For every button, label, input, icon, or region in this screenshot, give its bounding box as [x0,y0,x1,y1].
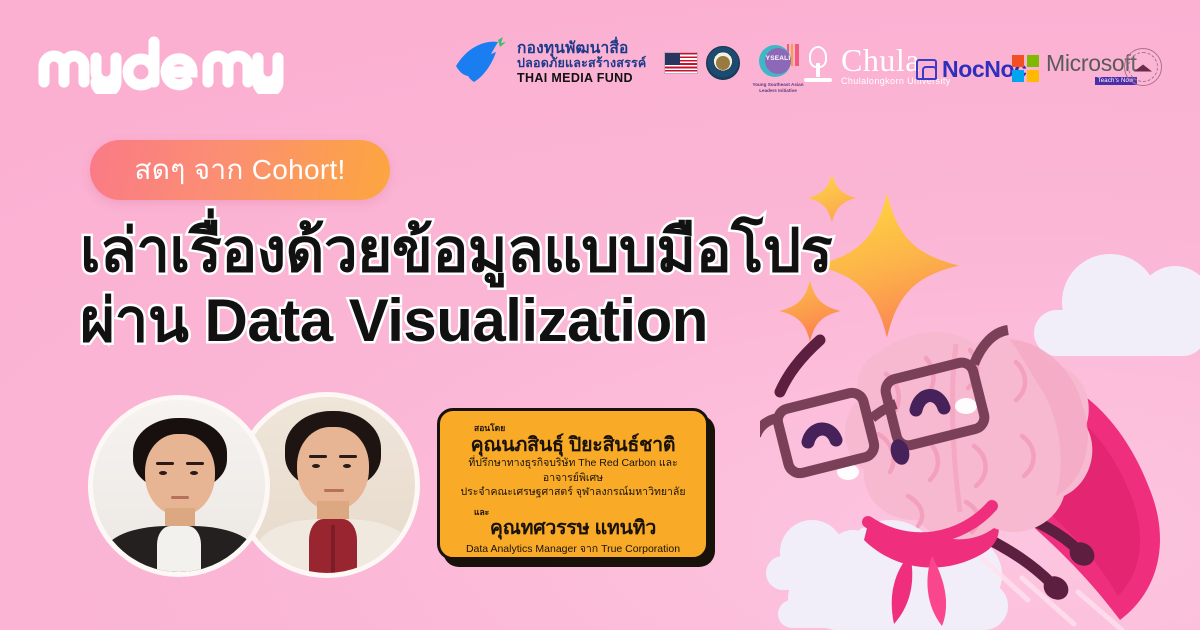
partner-logo-yseali: YSEALI Young Southeast Asian Leaders Ini… [748,42,808,93]
bird-icon [452,36,510,90]
nocnoc-house-icon [916,59,937,80]
speaker-2-role: Data Analytics Manager จาก True Corporat… [466,540,680,557]
us-flag-icon [664,52,698,74]
page-title: เล่าเรื่องด้วยข้อมูลแบบมือโปร ผ่าน Data … [80,216,980,355]
graduation-cap-seal-icon [1124,48,1162,86]
headline-line-2: ผ่าน Data Visualization [80,286,980,356]
yseali-subtitle: Young Southeast Asian Leaders Initiative [748,82,808,93]
tmf-thai-line-1: กองทุนพัฒนาสื่อ [517,41,647,58]
partner-logo-nocnoc: NocNoc [916,56,1027,83]
partner-logo-grad-seal [1124,48,1162,86]
tmf-thai-line-2: ปลอดภัยและสร้างสรรค์ [517,57,647,71]
speaker-card: สอนโดย คุณนภสินธุ์ ปิยะสินธ์ชาติ ที่ปรึก… [437,408,709,560]
chula-emblem-icon [800,45,836,85]
microsoft-squares-icon [1012,55,1039,82]
header-logo-bar: กองทุนพัฒนาสื่อ ปลอดภัยและสร้างสรรค์ THA… [0,0,1200,122]
tmf-english-name: THAI MEDIA FUND [517,72,647,86]
speaker-1-role-line-2: ประจำคณะเศรษฐศาสตร์ จุฬาลงกรณ์มหาวิทยาลั… [460,485,685,499]
microsoft-wordmark: Microsoft [1046,52,1137,75]
cohort-badge-label: สดๆ จาก Cohort! [134,148,345,192]
mydemy-logo[interactable] [36,34,296,94]
partner-logo-microsoft: Microsoft Teach's Now [1012,52,1137,85]
speaker-2-name: คุณทศวรรษ แทนทิว [490,517,656,539]
state-seal-icon [706,46,740,80]
partner-logo-us-flag [664,52,698,74]
partner-logo-us-state-dept [706,46,740,80]
speaker-1-role-line-1: ที่ปรึกษาทางธุรกิจบริษัท The Red Carbon … [452,456,694,484]
speaker-photo-1 [88,395,270,577]
yseali-wordmark: YSEALI [763,55,793,62]
speaker-2-kicker: และ [474,505,489,519]
speaker-1-kicker: สอนโดย [474,421,505,435]
cohort-badge[interactable]: สดๆ จาก Cohort! [90,140,390,200]
speaker-1-name: คุณนภสินธุ์ ปิยะสินธ์ชาติ [471,434,676,456]
headline-line-1: เล่าเรื่องด้วยข้อมูลแบบมือโปร [80,216,980,286]
poster-canvas: กองทุนพัฒนาสื่อ ปลอดภัยและสร้างสรรค์ THA… [0,0,1200,630]
partner-logo-thai-media-fund: กองทุนพัฒนาสื่อ ปลอดภัยและสร้างสรรค์ THA… [452,36,647,90]
yseali-icon: YSEALI [759,42,797,80]
